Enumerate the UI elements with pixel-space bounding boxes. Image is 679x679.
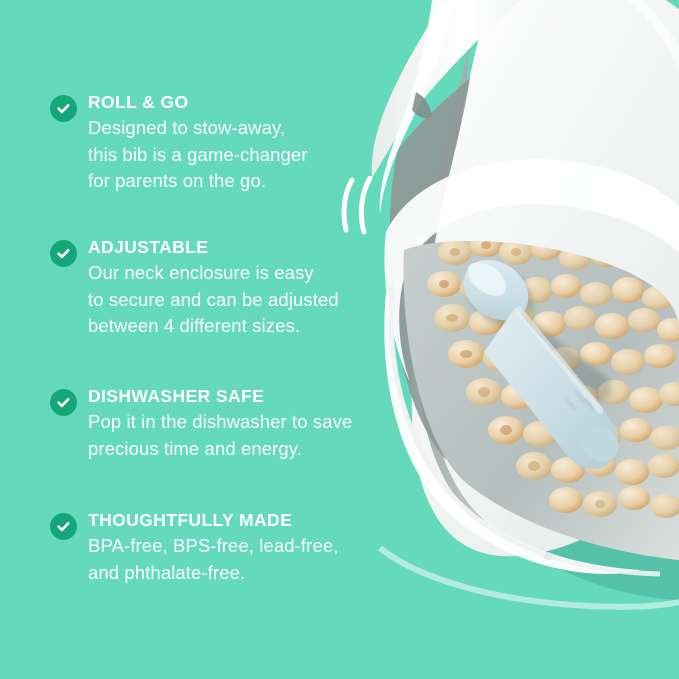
feature-heading: THOUGHTFULLY MADE	[88, 510, 338, 531]
feature-body-line: precious time and energy.	[88, 436, 352, 463]
infographic-canvas: ROLL & GO Designed to stow-away, this bi…	[0, 0, 679, 679]
feature-body-line: BPA-free, BPS-free, lead-free,	[88, 533, 338, 560]
feature-item-thoughtfully-made: THOUGHTFULLY MADE BPA-free, BPS-free, le…	[50, 510, 338, 586]
feature-body-line: to secure and can be adjusted	[88, 287, 339, 314]
feature-body-line: and phthalate-free.	[88, 560, 338, 587]
check-circle-icon	[50, 513, 77, 540]
feature-body: Pop it in the dishwasher to save preciou…	[88, 409, 352, 462]
feature-heading: DISHWASHER SAFE	[88, 386, 352, 407]
feature-body-line: this bib is a game-changer	[88, 142, 308, 169]
feature-body: Designed to stow-away, this bib is a gam…	[88, 115, 308, 195]
feature-body: BPA-free, BPS-free, lead-free, and phtha…	[88, 533, 338, 586]
check-circle-icon	[50, 389, 77, 416]
feature-body-line: for parents on the go.	[88, 168, 308, 195]
feature-item-dishwasher-safe: DISHWASHER SAFE Pop it in the dishwasher…	[50, 386, 352, 462]
feature-item-adjustable: ADJUSTABLE Our neck enclosure is easy to…	[50, 237, 339, 340]
feature-body-line: between 4 different sizes.	[88, 313, 339, 340]
feature-heading: ROLL & GO	[88, 92, 308, 113]
feature-body: Our neck enclosure is easy to secure and…	[88, 260, 339, 340]
feature-item-roll-and-go: ROLL & GO Designed to stow-away, this bi…	[50, 92, 308, 195]
feature-body-line: Pop it in the dishwasher to save	[88, 409, 352, 436]
check-circle-icon	[50, 95, 77, 122]
feature-heading: ADJUSTABLE	[88, 237, 339, 258]
feature-list: ROLL & GO Designed to stow-away, this bi…	[0, 0, 400, 679]
check-circle-icon	[50, 240, 77, 267]
feature-body-line: Designed to stow-away,	[88, 115, 308, 142]
feature-body-line: Our neck enclosure is easy	[88, 260, 339, 287]
